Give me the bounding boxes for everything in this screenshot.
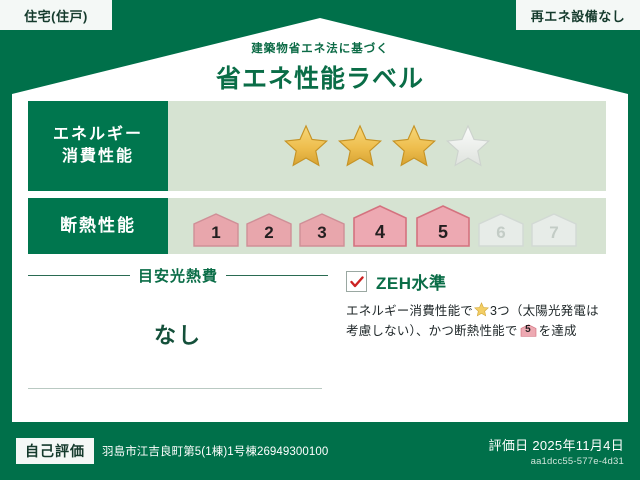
footer-left: 自己評価 羽島市江吉良町第5(1棟)1号棟26949300100	[16, 438, 328, 464]
grade-item: 3	[297, 212, 347, 248]
self-evaluation-badge: 自己評価	[16, 438, 94, 464]
grade-item: 4	[350, 204, 410, 248]
grade-item: 5	[413, 204, 473, 248]
insulation-grade-scale: 1 2 3 4	[191, 204, 583, 248]
grade-badge-inline-number: 5	[520, 322, 537, 338]
zeh-checkbox[interactable]	[346, 271, 367, 292]
energy-performance-label: エネルギー 消費性能	[28, 101, 168, 191]
energy-performance-label-line1: エネルギー	[53, 124, 143, 146]
utility-cost-title: 目安光熱費	[138, 265, 218, 286]
evaluation-id: aa1dcc55-577e-4d31	[489, 456, 624, 467]
star-rating	[283, 123, 491, 169]
tag-building-type: 住宅(住戸)	[0, 0, 112, 30]
label-content: エネルギー 消費性能	[28, 101, 606, 414]
grade-item: 7	[529, 212, 579, 248]
insulation-performance-value: 1 2 3 4	[168, 198, 606, 254]
grade-item: 2	[244, 212, 294, 248]
evaluation-date-value: 2025年11月4日	[532, 438, 624, 453]
label-footer: 自己評価 羽島市江吉良町第5(1棟)1号棟26949300100 評価日 202…	[0, 422, 640, 480]
star-icon-inline	[474, 302, 489, 317]
zeh-desc-part1: エネルギー消費性能で	[346, 304, 473, 318]
check-icon	[350, 276, 364, 288]
insulation-performance-label-line1: 断熱性能	[60, 215, 136, 238]
energy-performance-label: 住宅(住戸) 再エネ設備なし 建築物省エネ法に基づく 省エネ性能ラベル エネルギ…	[0, 0, 640, 480]
utility-cost-value: なし	[28, 318, 328, 350]
zeh-desc-part3: を達成	[539, 324, 577, 338]
utility-cost-section: 目安光熱費 なし	[28, 261, 328, 411]
insulation-performance-label: 断熱性能	[28, 198, 168, 254]
evaluation-date-label: 評価日	[489, 438, 529, 453]
evaluation-date: 評価日 2025年11月4日	[489, 435, 624, 454]
energy-performance-label-line2: 消費性能	[62, 146, 134, 168]
star-icon-filled	[391, 123, 437, 169]
lower-section: 目安光熱費 なし ZEH水準 エネルギー消費性能で3つ（太陽光発電は考慮しな	[28, 261, 606, 411]
footer-right: 評価日 2025年11月4日 aa1dcc55-577e-4d31	[489, 435, 624, 467]
zeh-section: ZEH水準 エネルギー消費性能で3つ（太陽光発電は考慮しない）、かつ断熱性能で5…	[328, 261, 606, 411]
utility-cost-header: 目安光熱費	[28, 265, 328, 286]
row-energy-performance: エネルギー 消費性能	[28, 101, 606, 191]
property-address: 羽島市江吉良町第5(1棟)1号棟26949300100	[102, 443, 328, 459]
zeh-title: ZEH水準	[376, 269, 447, 294]
star-icon-filled	[283, 123, 329, 169]
tag-renewable-equipment: 再エネ設備なし	[516, 0, 640, 30]
label-subtitle: 建築物省エネ法に基づく	[0, 40, 640, 56]
star-icon-filled	[337, 123, 383, 169]
grade-item: 6	[476, 212, 526, 248]
energy-performance-value	[168, 101, 606, 191]
zeh-desc-star-count: 3つ（太陽光発電	[490, 304, 586, 318]
grade-item: 1	[191, 212, 241, 248]
divider-right	[226, 275, 328, 276]
label-title-block: 建築物省エネ法に基づく 省エネ性能ラベル	[0, 40, 640, 95]
page-title: 省エネ性能ラベル	[0, 59, 640, 95]
star-icon-empty	[445, 123, 491, 169]
grade-badge-inline: 5	[520, 323, 537, 338]
tag-building-type-label: 住宅(住戸)	[24, 6, 88, 25]
row-insulation-performance: 断熱性能 1 2 3	[28, 198, 606, 254]
tag-renewable-equipment-label: 再エネ設備なし	[531, 6, 626, 25]
zeh-header: ZEH水準	[346, 269, 606, 294]
divider-left	[28, 275, 130, 276]
utility-cost-bottom-divider	[28, 388, 322, 389]
zeh-description: エネルギー消費性能で3つ（太陽光発電は考慮しない）、かつ断熱性能で5を達成	[346, 301, 606, 342]
